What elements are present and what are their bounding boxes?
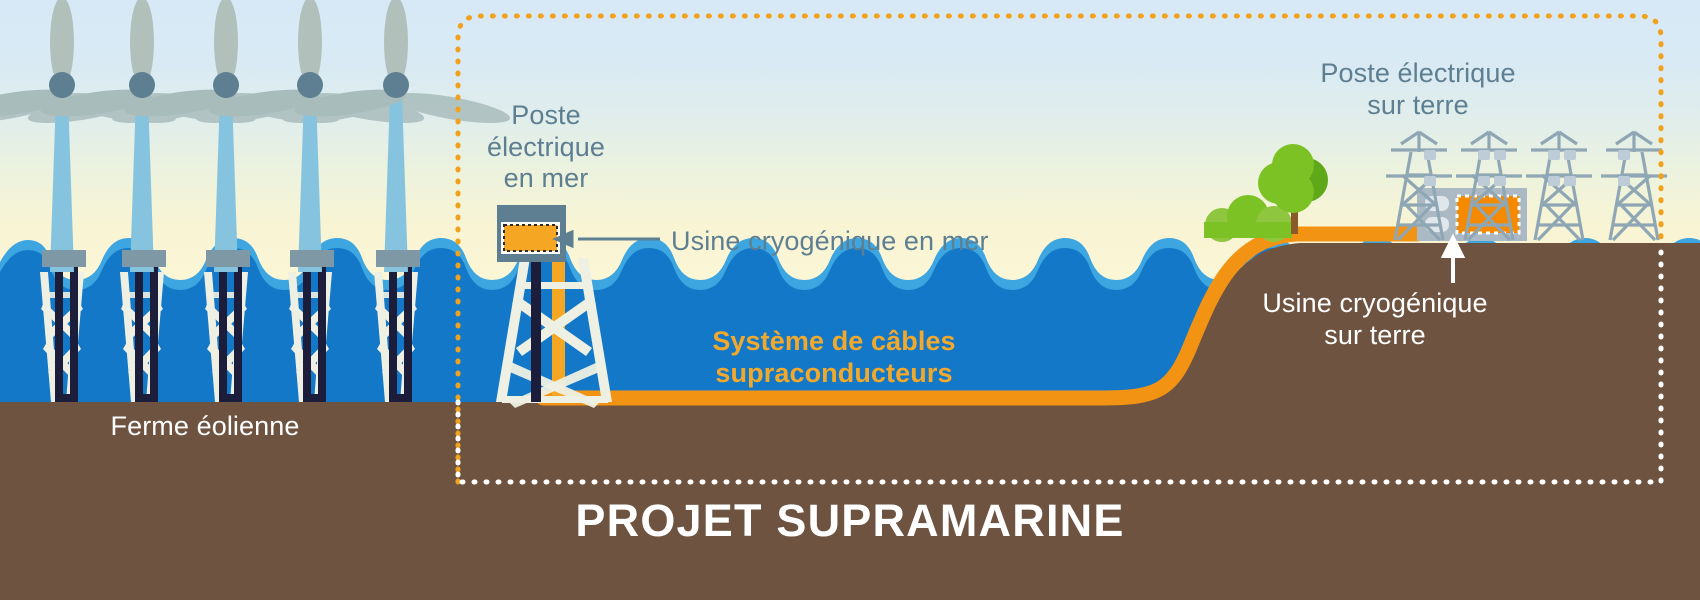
label-onshore-cryo-plant: Usine cryogénique sur terre xyxy=(1200,288,1550,351)
pylon xyxy=(1601,132,1667,240)
label-superconducting-cable: Système de câbles supraconducteurs xyxy=(700,325,968,390)
turbine-blades-front xyxy=(0,0,409,122)
label-offshore-substation: Poste électrique en mer xyxy=(481,100,611,195)
label-offshore-cryo-plant: Usine cryogénique en mer xyxy=(671,226,1091,258)
page-title: PROJET SUPRAMARINE xyxy=(0,495,1700,547)
label-onshore-substation: Poste électrique sur terre xyxy=(1293,58,1543,121)
offshore-substation-structure xyxy=(497,205,566,262)
infographic-canvas: Poste électrique en mer Usine cryogéniqu… xyxy=(0,0,1700,600)
pylon xyxy=(1526,132,1592,240)
wind-turbines xyxy=(0,0,512,272)
label-wind-farm: Ferme éolienne xyxy=(20,411,390,443)
